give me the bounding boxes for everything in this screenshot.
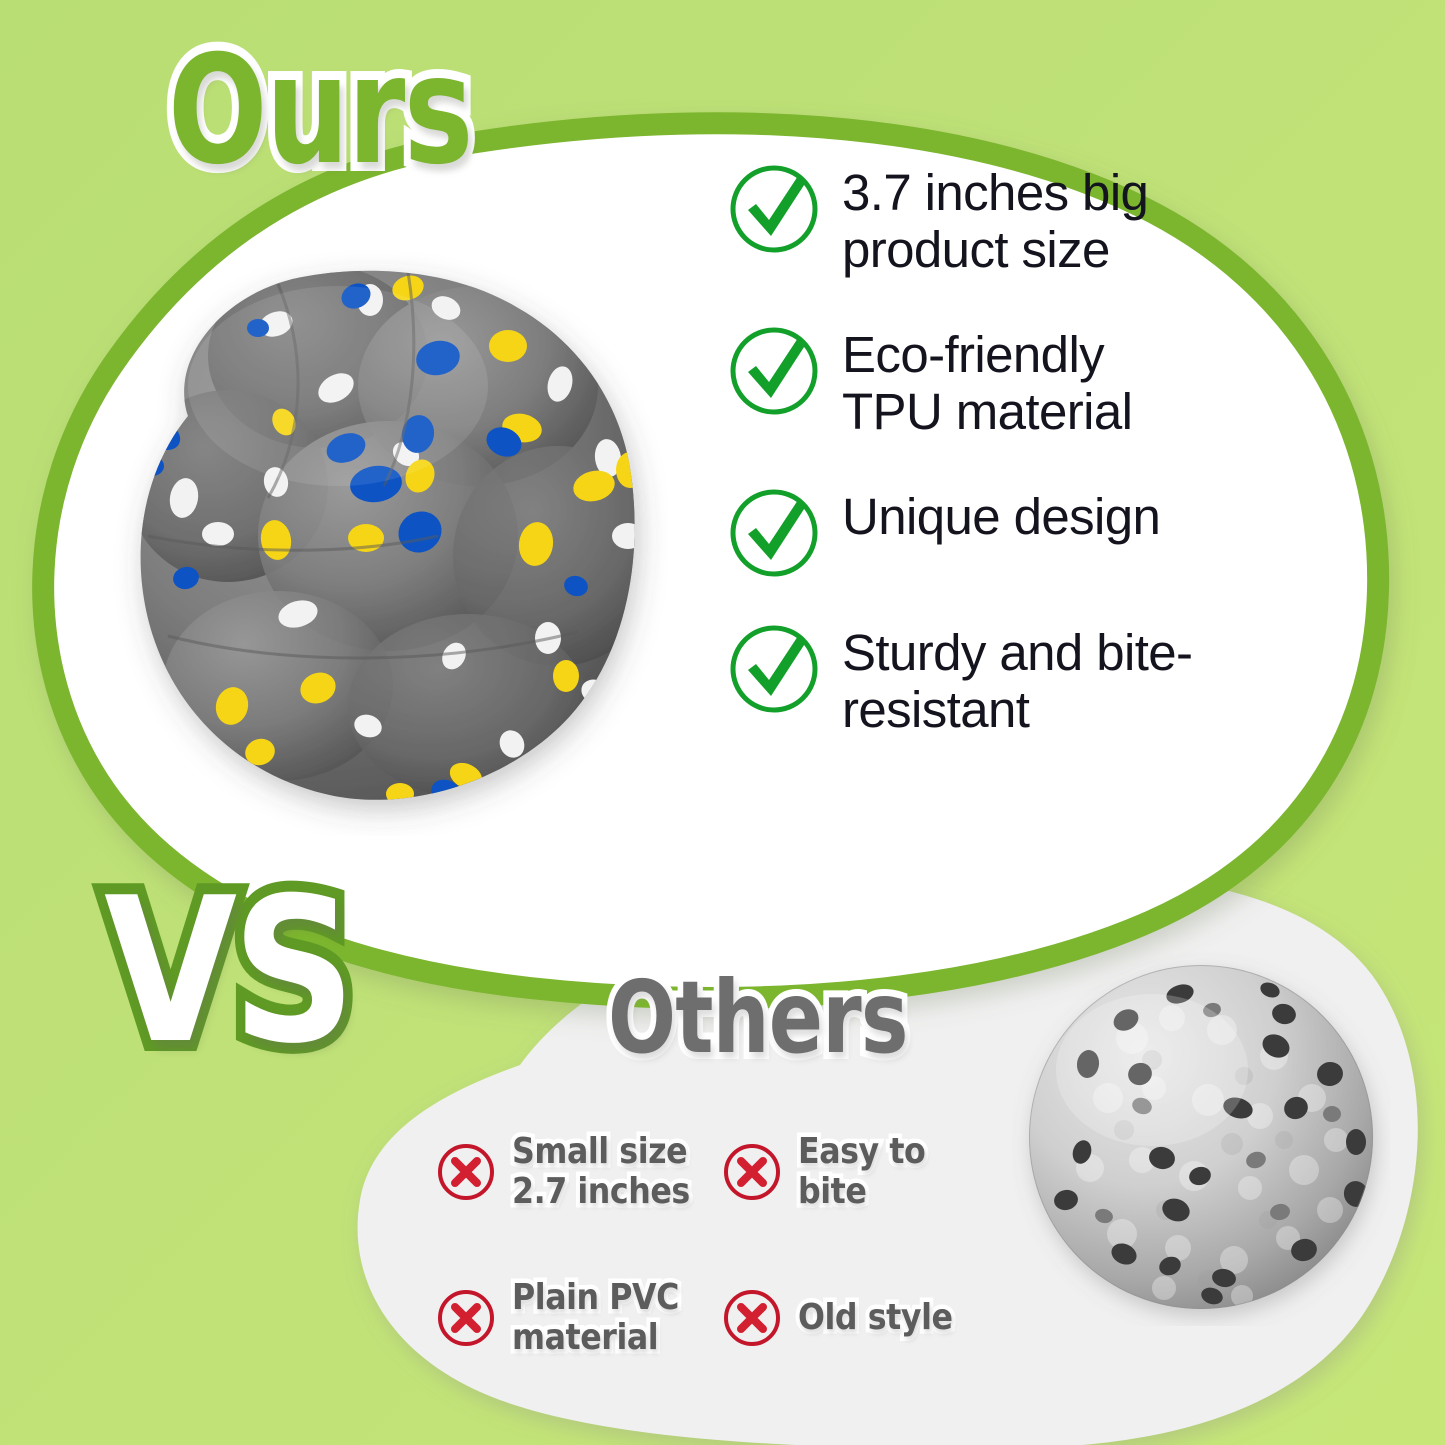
con-item: Easy to bite <box>722 1132 1016 1212</box>
con-label: Small size 2.7 inches <box>512 1132 690 1212</box>
others-product-image <box>1012 948 1390 1326</box>
feature-label: Sturdy and bite-resistant <box>842 620 1198 738</box>
check-circle-icon <box>728 622 820 714</box>
check-circle-icon <box>728 486 820 578</box>
feature-item: Unique design <box>728 484 1198 576</box>
feature-item: Eco-friendly TPU material <box>728 322 1198 440</box>
cross-circle-icon <box>722 1288 782 1348</box>
con-item: Old style <box>722 1278 1016 1358</box>
ours-feature-list: 3.7 inches big product size Eco-friendly… <box>728 160 1198 738</box>
con-label: Easy to bite <box>798 1132 990 1212</box>
con-label: Plain PVC material <box>512 1278 679 1358</box>
cross-circle-icon <box>436 1288 496 1348</box>
feature-item: Sturdy and bite-resistant <box>728 620 1198 738</box>
comparison-infographic: Ours <box>0 0 1445 1445</box>
con-item: Plain PVC material <box>436 1278 722 1358</box>
feature-label: Eco-friendly TPU material <box>842 322 1198 440</box>
feature-label: 3.7 inches big product size <box>842 160 1198 278</box>
check-circle-icon <box>728 162 820 254</box>
others-title: Others <box>608 968 908 1068</box>
others-cons-list: Small size 2.7 inches Easy to bite Plain… <box>436 1132 1016 1358</box>
versus-label: VS <box>104 872 351 1072</box>
cross-circle-icon <box>436 1142 496 1202</box>
ours-title: Ours <box>168 36 472 186</box>
ours-product-image <box>108 236 668 836</box>
con-item: Small size 2.7 inches <box>436 1132 722 1212</box>
check-circle-icon <box>728 324 820 416</box>
feature-label: Unique design <box>842 484 1160 545</box>
feature-item: 3.7 inches big product size <box>728 160 1198 278</box>
cross-circle-icon <box>722 1142 782 1202</box>
con-label: Old style <box>798 1298 953 1338</box>
